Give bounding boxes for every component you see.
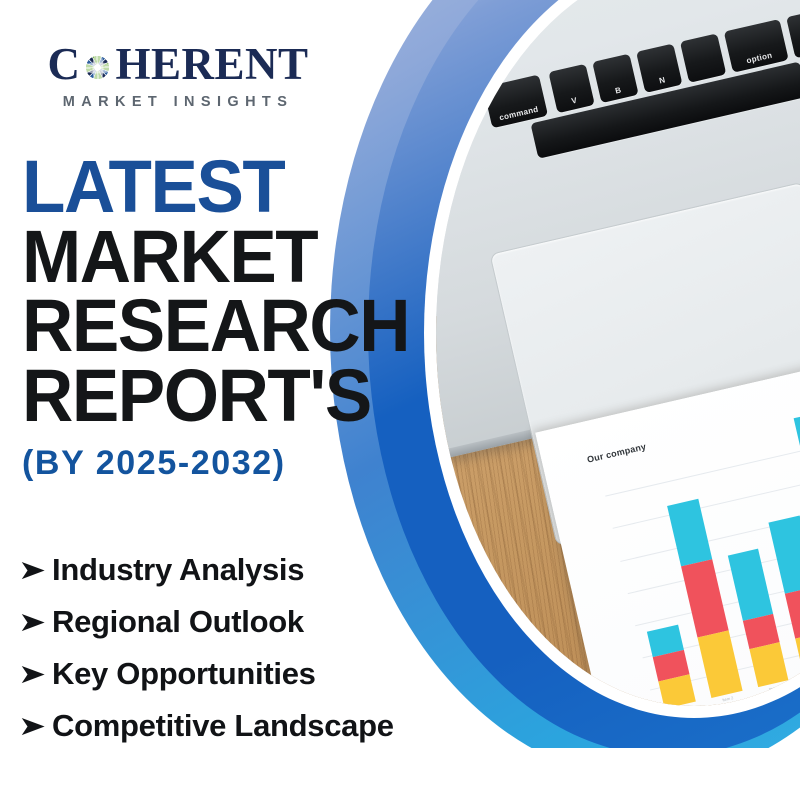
headline-line-1: LATEST <box>22 152 435 222</box>
bar-segment-yellow <box>749 642 789 688</box>
bar-column: Item 1 <box>647 625 696 706</box>
bar-segment-yellow <box>697 631 742 699</box>
bullet-label: Regional Outlook <box>52 604 304 640</box>
headline-line-2: MARKET <box>22 222 435 292</box>
bar-segment-cyan <box>793 412 800 463</box>
bar-segment-yellow <box>795 631 800 677</box>
bullet-item-0: ➤Industry Analysis <box>18 552 538 588</box>
bullet-item-3: ➤Competitive Landscape <box>18 708 538 744</box>
arrow-bullet-icon: ➤ <box>18 557 61 584</box>
brand-letters-herent: HERENT <box>115 42 308 87</box>
key-b: B <box>593 53 639 102</box>
bullet-label: Industry Analysis <box>52 552 304 588</box>
brand-tagline: MARKET INSIGHTS <box>44 94 312 110</box>
bar-segment-yellow <box>659 674 696 706</box>
bullet-item-2: ➤Key Opportunities <box>18 656 538 692</box>
bar-segment-cyan <box>768 516 800 595</box>
promotional-poster: command V B N option option Our company <box>0 0 800 800</box>
brand-logo: C HERENT MARKET INSIGHTS <box>44 42 312 110</box>
bullet-item-1: ➤Regional Outlook <box>18 604 538 640</box>
arrow-bullet-icon: ➤ <box>18 713 61 740</box>
key-v: V <box>549 63 595 112</box>
brand-wordmark: C HERENT <box>44 42 312 87</box>
bar-chart-title: Our company <box>586 442 647 465</box>
headline-line-3: RESEARCH <box>22 291 435 361</box>
feature-bullet-list: ➤Industry Analysis➤Regional Outlook➤Key … <box>18 552 538 760</box>
bar-segment-red <box>785 587 800 638</box>
globe-dot-pattern-icon <box>81 51 114 84</box>
headline-block: LATEST MARKET RESEARCH REPORT'S (BY 2025… <box>22 152 452 483</box>
bullet-label: Competitive Landscape <box>52 708 394 744</box>
key-n: N <box>636 43 682 92</box>
brand-letter-c: C <box>47 42 80 87</box>
arrow-bullet-icon: ➤ <box>18 609 61 636</box>
key-m <box>680 33 726 82</box>
forecast-period: (BY 2025-2032) <box>22 444 452 483</box>
bullet-label: Key Opportunities <box>52 656 316 692</box>
bar-segment-cyan <box>667 499 712 567</box>
headline-line-4: REPORT'S <box>22 361 435 431</box>
arrow-bullet-icon: ➤ <box>18 661 61 688</box>
gridline <box>620 464 800 562</box>
